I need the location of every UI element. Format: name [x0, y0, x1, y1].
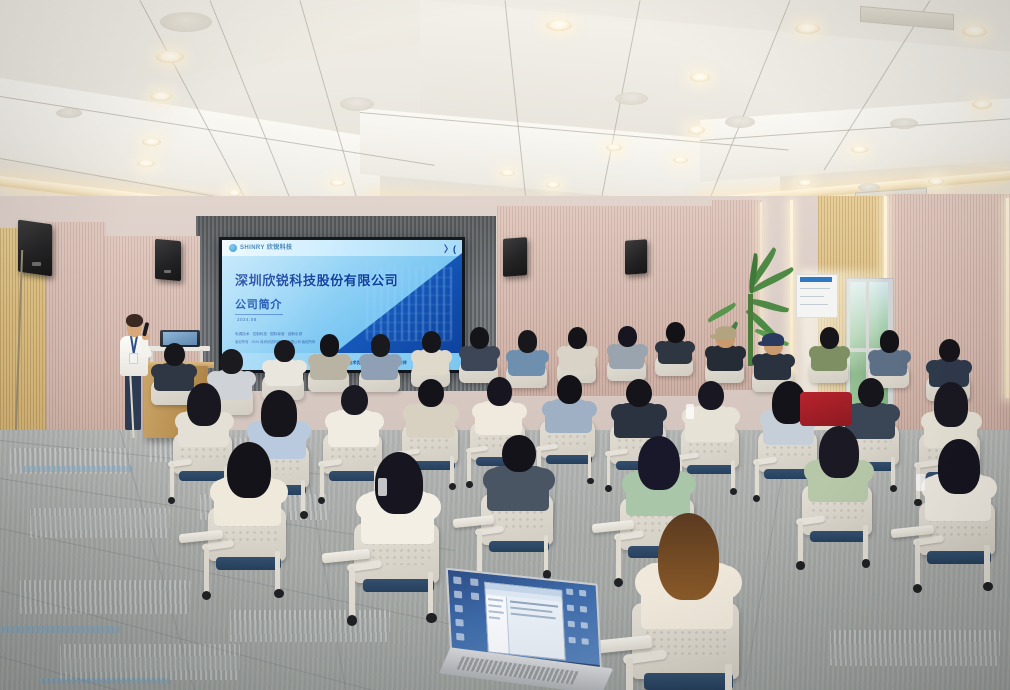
audience-head	[274, 340, 294, 363]
audience-shoulder	[681, 341, 695, 354]
audience-shoulder	[411, 350, 426, 363]
audience-shoulder	[896, 350, 911, 364]
audience-shoulder	[181, 364, 197, 379]
audience-shoulder	[363, 412, 384, 431]
chair-leg	[755, 461, 759, 496]
audience-head	[320, 334, 340, 356]
audience-shoulder	[530, 468, 555, 492]
audience-hair	[638, 436, 680, 490]
audience-shoulder	[809, 346, 824, 359]
audience-shoulder	[534, 350, 549, 364]
conference-room-screenshot: SHINRY 欣锐科技 〉( 深圳欣锐科技股份有限公司 公司简介 2024.08…	[0, 0, 1010, 690]
red-bag	[800, 392, 852, 426]
audience-head	[557, 375, 582, 403]
audience-shoulder	[262, 360, 278, 374]
audience-shoulder	[506, 350, 521, 364]
audience-shoulder	[648, 404, 668, 422]
chair-leg	[349, 567, 355, 618]
audience-shoulder	[732, 346, 747, 359]
chair-leg	[170, 463, 174, 498]
chair-caster	[890, 485, 897, 492]
chair-caster	[605, 485, 612, 492]
chair-leg	[915, 541, 920, 586]
audience-hair	[819, 426, 859, 477]
audience-head	[820, 327, 839, 348]
chair-cushion	[927, 551, 990, 563]
audience-head	[518, 330, 538, 352]
chair-leg	[588, 451, 592, 481]
water-bottle	[916, 474, 925, 491]
audience-shoulder	[557, 346, 572, 359]
audience-shoulder	[239, 371, 256, 387]
audience-shoulder	[507, 403, 526, 421]
chair-leg	[275, 551, 280, 593]
audience-shoulder	[483, 468, 508, 492]
audience-shoulder	[403, 404, 423, 422]
audience-shoulder	[607, 344, 621, 357]
chair-leg	[616, 536, 621, 580]
audience-shoulder	[633, 344, 647, 357]
audience-head	[470, 327, 489, 348]
audience-shoulder	[926, 360, 942, 375]
audience-head	[371, 334, 391, 356]
audience-member	[808, 426, 880, 569]
audience-head	[422, 331, 441, 352]
audience-member	[214, 442, 294, 600]
chair-leg	[544, 535, 549, 574]
chair-caster	[796, 561, 805, 570]
audience-shoulder	[868, 350, 883, 364]
water-bottle	[686, 404, 694, 419]
audience-shoulder	[151, 364, 167, 379]
chair-caster	[347, 615, 357, 625]
audience-member	[641, 513, 751, 690]
audience-shoulder	[956, 360, 972, 375]
chair-leg	[984, 545, 989, 586]
audience-shoulder	[387, 354, 402, 368]
chair-leg	[731, 460, 735, 491]
audience-head	[939, 339, 960, 363]
audience-shoulder	[611, 404, 631, 422]
chair-leg	[798, 521, 803, 563]
chair-cushion	[810, 531, 869, 542]
chair-leg	[607, 453, 611, 486]
water-bottle	[378, 478, 387, 496]
chair-leg	[626, 658, 633, 690]
laptop-explorer-window[interactable]	[484, 582, 566, 661]
chair-caster	[202, 591, 211, 600]
audience-member	[361, 452, 448, 625]
chair-cushion	[363, 579, 434, 593]
cap-brim-icon	[710, 334, 722, 338]
audience-head	[858, 378, 885, 408]
audience-shoulder	[359, 354, 374, 368]
audience-shoulder	[336, 354, 351, 368]
chair-caster	[426, 613, 436, 623]
chair-leg	[467, 450, 471, 483]
audience-shoulder	[438, 350, 453, 363]
audience-hair	[658, 513, 719, 600]
audience-shoulder	[720, 407, 740, 426]
audience-hair	[187, 383, 221, 426]
audience-head	[418, 379, 444, 408]
audience-head	[618, 326, 637, 347]
audience-shoulder	[577, 401, 596, 419]
audience-head	[568, 327, 587, 348]
audience-shoulder	[486, 346, 501, 359]
audience-head	[666, 322, 684, 343]
audience-member	[925, 439, 1003, 592]
chair-caster	[300, 511, 308, 519]
audience-shoulder	[705, 346, 720, 359]
audience-shoulder	[291, 360, 307, 374]
audience-head	[164, 343, 185, 367]
foreground-laptop[interactable]	[440, 576, 620, 690]
chair-caster	[862, 559, 871, 568]
chair-cushion	[216, 557, 281, 570]
audience-head	[502, 435, 535, 472]
chair-leg	[477, 531, 482, 574]
audience-shoulder	[752, 354, 767, 368]
chair-leg	[450, 456, 454, 486]
audience-shoulder	[308, 354, 323, 368]
audience-shoulder	[780, 354, 795, 368]
chair-leg	[320, 463, 324, 498]
chair-caster	[449, 483, 456, 490]
chair-caster	[168, 497, 175, 504]
audience-hair	[227, 442, 271, 499]
chair-leg	[725, 664, 732, 690]
audience-head	[220, 349, 242, 374]
chair-caster	[913, 584, 922, 593]
audience-shoulder	[440, 404, 460, 422]
chair-caster	[753, 495, 760, 502]
audience-member	[487, 433, 561, 580]
audience-hair	[938, 439, 981, 494]
chair-caster	[587, 478, 594, 485]
chair-leg	[301, 480, 305, 514]
audience-shoulder	[836, 346, 851, 359]
audience-shoulder	[459, 346, 474, 359]
chair-leg	[891, 457, 895, 488]
audience-head	[487, 377, 512, 405]
audience-hair	[261, 390, 297, 436]
chair-leg	[863, 525, 868, 563]
chair-leg	[428, 572, 434, 618]
chair-caster	[730, 488, 737, 495]
chair-caster	[274, 589, 283, 598]
chair-caster	[466, 481, 473, 488]
audience-shoulder	[584, 346, 599, 359]
audience-head	[341, 385, 368, 415]
audience-head	[880, 330, 900, 352]
chair-cushion	[489, 541, 550, 553]
chair-caster	[318, 497, 325, 504]
audience-hair	[934, 382, 968, 426]
chair-leg	[204, 547, 209, 593]
audience-head	[626, 379, 652, 408]
audience-head	[698, 381, 725, 411]
audience-shoulder	[655, 341, 669, 354]
audience-shoulder	[880, 404, 900, 423]
chair-caster	[983, 582, 992, 591]
chair-cushion	[644, 673, 734, 690]
